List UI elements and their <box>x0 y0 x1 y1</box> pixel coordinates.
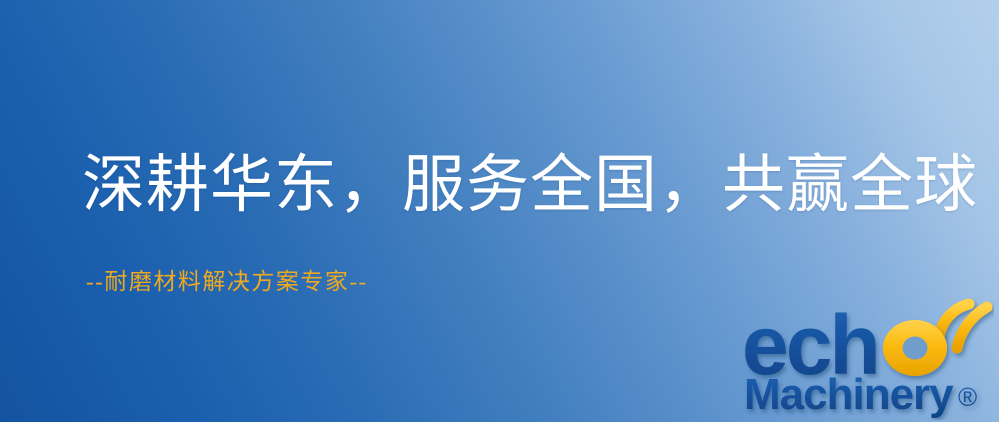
echo-machinery-logo[interactable]: ech Machinery ® <box>742 296 994 420</box>
promo-banner: 深耕华东，服务全国，共赢全球 --耐磨材料解决方案专家-- <box>0 0 999 422</box>
signal-waves-icon <box>939 304 987 348</box>
logo-machinery-text: Machinery <box>744 370 954 419</box>
signal-wave-outer-icon <box>957 307 987 348</box>
logo-o-letter <box>883 320 947 376</box>
registered-trademark-icon: ® <box>958 382 977 412</box>
banner-headline: 深耕华东，服务全国，共赢全球 <box>82 152 978 218</box>
banner-subtitle: --耐磨材料解决方案专家-- <box>86 268 368 296</box>
